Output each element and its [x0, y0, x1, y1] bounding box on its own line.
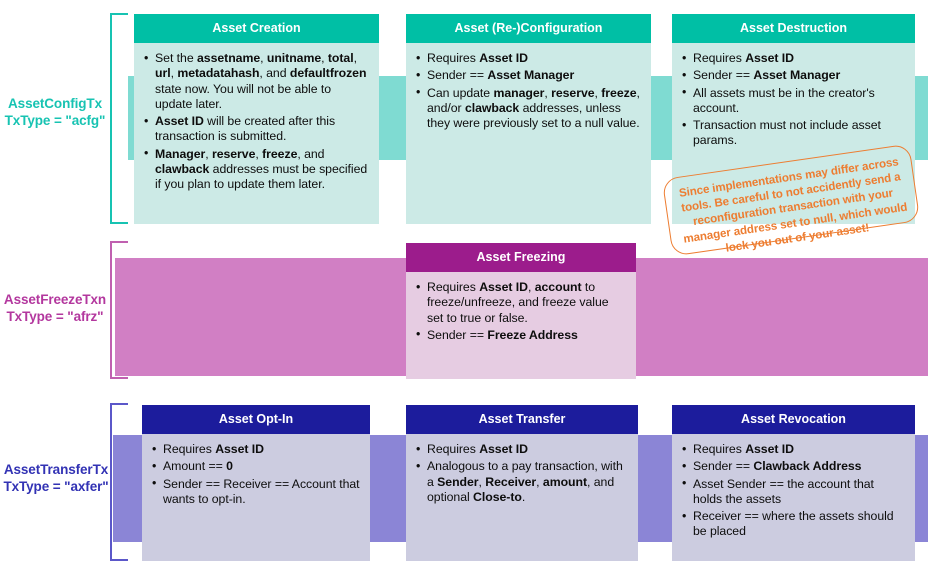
bullet-item: Transaction must not include asset param…: [682, 118, 905, 149]
bullet-list: Requires Asset IDSender == Clawback Addr…: [682, 442, 905, 540]
bullet-item: Sender == Asset Manager: [416, 68, 641, 83]
bullet-item: Manager, reserve, freeze, and clawback a…: [144, 147, 369, 193]
row-label-assettransfer: AssetTransferTx TxType = "axfer": [0, 461, 112, 495]
row-label-assetconfig: AssetConfigTx TxType = "acfg": [0, 95, 110, 129]
card-asset-freezing[interactable]: Asset Freezing Requires Asset ID, accoun…: [406, 243, 636, 379]
card-asset-reconfiguration[interactable]: Asset (Re-)Configuration Requires Asset …: [406, 14, 651, 224]
bullet-item: Requires Asset ID: [152, 442, 360, 457]
diagram-canvas: AssetConfigTx TxType = "acfg" AssetFreez…: [0, 0, 933, 566]
card-title: Asset Creation: [134, 14, 379, 43]
bullet-item: Sender == Clawback Address: [682, 459, 905, 474]
bullet-list: Requires Asset ID, account to freeze/unf…: [416, 280, 626, 343]
card-title: Asset Revocation: [672, 405, 915, 434]
card-body: Requires Asset IDSender == Asset Manager…: [406, 43, 651, 139]
bullet-item: Requires Asset ID: [682, 51, 905, 66]
bullet-item: Asset ID will be created after this tran…: [144, 114, 369, 145]
bullet-item: Requires Asset ID: [682, 442, 905, 457]
row-label-line2: TxType = "axfer": [0, 478, 112, 495]
card-body: Requires Asset IDSender == Asset Manager…: [672, 43, 915, 157]
bullet-item: Asset Sender == the account that holds t…: [682, 477, 905, 508]
card-title: Asset Transfer: [406, 405, 638, 434]
bracket-assetfreeze: [110, 241, 128, 379]
bullet-item: All assets must be in the creator's acco…: [682, 86, 905, 117]
bullet-item: Set the assetname, unitname, total, url,…: [144, 51, 369, 112]
card-asset-opt-in[interactable]: Asset Opt-In Requires Asset IDAmount == …: [142, 405, 370, 561]
bullet-item: Sender == Freeze Address: [416, 328, 626, 343]
card-body: Requires Asset IDAnalogous to a pay tran…: [406, 434, 638, 513]
card-body: Set the assetname, unitname, total, url,…: [134, 43, 379, 201]
bullet-list: Requires Asset IDSender == Asset Manager…: [682, 51, 905, 149]
bullet-item: Requires Asset ID, account to freeze/unf…: [416, 280, 626, 326]
bullet-item: Receiver == where the assets should be p…: [682, 509, 905, 540]
card-asset-transfer[interactable]: Asset Transfer Requires Asset IDAnalogou…: [406, 405, 638, 561]
bullet-list: Requires Asset IDSender == Asset Manager…: [416, 51, 641, 131]
row-label-assetfreeze: AssetFreezeTxn TxType = "afrz": [0, 291, 110, 325]
bracket-assettransfer: [110, 403, 128, 561]
card-title: Asset (Re-)Configuration: [406, 14, 651, 43]
card-title: Asset Opt-In: [142, 405, 370, 434]
card-body: Requires Asset IDAmount == 0Sender == Re…: [142, 434, 370, 515]
row-label-line1: AssetTransferTx: [0, 461, 112, 478]
bullet-item: Requires Asset ID: [416, 51, 641, 66]
card-body: Requires Asset IDSender == Clawback Addr…: [672, 434, 915, 548]
card-asset-creation[interactable]: Asset Creation Set the assetname, unitna…: [134, 14, 379, 224]
bullet-item: Analogous to a pay transaction, with a S…: [416, 459, 628, 505]
bullet-item: Sender == Asset Manager: [682, 68, 905, 83]
row-label-line1: AssetFreezeTxn: [0, 291, 110, 308]
card-body: Requires Asset ID, account to freeze/unf…: [406, 272, 636, 351]
row-label-line2: TxType = "afrz": [0, 308, 110, 325]
bullet-list: Requires Asset IDAnalogous to a pay tran…: [416, 442, 628, 505]
bullet-item: Amount == 0: [152, 459, 360, 474]
bullet-list: Set the assetname, unitname, total, url,…: [144, 51, 369, 193]
bullet-list: Requires Asset IDAmount == 0Sender == Re…: [152, 442, 360, 507]
bullet-item: Can update manager, reserve, freeze, and…: [416, 86, 641, 132]
card-title: Asset Destruction: [672, 14, 915, 43]
bullet-item: Sender == Receiver == Account that wants…: [152, 477, 360, 508]
row-label-line1: AssetConfigTx: [0, 95, 110, 112]
row-label-line2: TxType = "acfg": [0, 112, 110, 129]
bullet-item: Requires Asset ID: [416, 442, 628, 457]
card-title: Asset Freezing: [406, 243, 636, 272]
card-asset-revocation[interactable]: Asset Revocation Requires Asset IDSender…: [672, 405, 915, 561]
bracket-assetconfig: [110, 13, 128, 224]
